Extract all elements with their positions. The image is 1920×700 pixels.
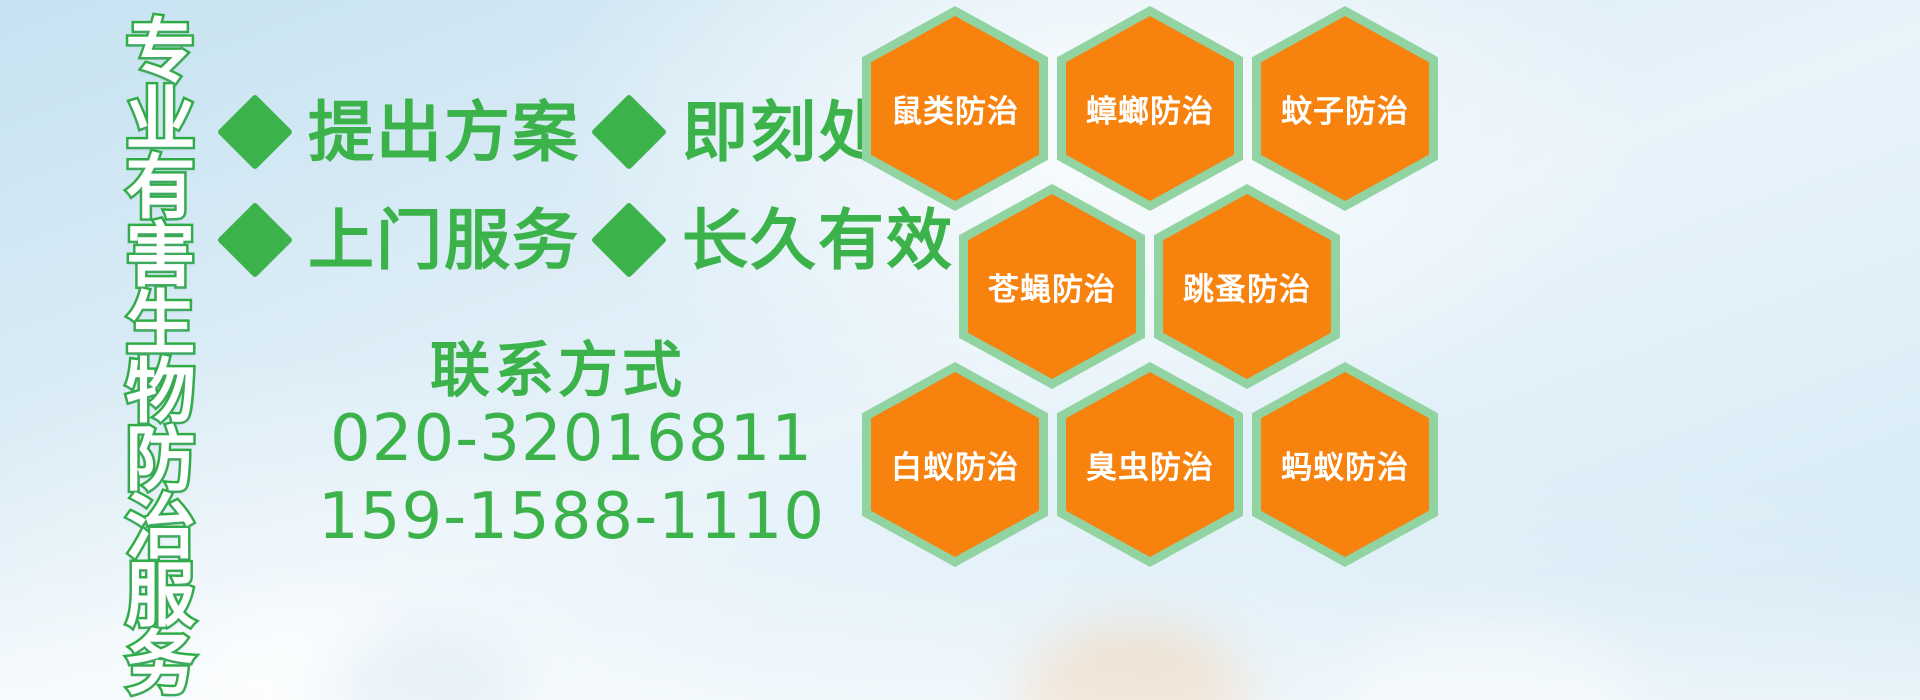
diamond-bullet-icon (591, 202, 667, 278)
service-label: 苍蝇防治 (988, 264, 1116, 309)
service-hex-ant[interactable]: 蚂蚁防治 (1252, 362, 1438, 567)
contact-mobile[interactable]: 159-1588-1110 (318, 480, 825, 554)
slogan-item-3: 上门服务 (308, 207, 580, 273)
service-hex-cockroach[interactable]: 蟑螂防治 (1057, 6, 1243, 211)
background-blob-left (180, 620, 440, 700)
service-label: 臭虫防治 (1086, 442, 1214, 487)
background-blob-left-2 (330, 640, 520, 700)
diamond-bullet-icon (217, 202, 293, 278)
service-hex-termite[interactable]: 白蚁防治 (862, 362, 1048, 567)
service-label: 白蚁防治 (891, 442, 1019, 487)
service-hex-grid: 鼠类防治 蟑螂防治 蚊子防治 苍蝇防治 跳蚤防治 白蚁防治 (862, 0, 1462, 580)
contact-landline[interactable]: 020-32016811 (330, 402, 813, 476)
diamond-bullet-icon (217, 94, 293, 170)
service-hex-fly[interactable]: 苍蝇防治 (959, 184, 1145, 389)
diamond-bullet-icon (591, 94, 667, 170)
slogan-row-2: 上门服务 长久有效 (228, 186, 868, 294)
service-hex-flea[interactable]: 跳蚤防治 (1154, 184, 1340, 389)
contact-heading: 联系方式 (430, 322, 686, 409)
slogan-list: 提出方案 即刻处理 上门服务 长久有效 (228, 78, 868, 294)
background-blob-orange (1020, 630, 1250, 700)
service-label: 蟑螂防治 (1086, 86, 1214, 131)
slogan-row-1: 提出方案 即刻处理 (228, 78, 868, 186)
service-label: 蚂蚁防治 (1281, 442, 1409, 487)
service-hex-mosquito[interactable]: 蚊子防治 (1252, 6, 1438, 211)
slogan-item-1: 提出方案 (308, 99, 580, 165)
service-hex-bedbug[interactable]: 臭虫防治 (1057, 362, 1243, 567)
pest-control-banner: 专业有害生物防治服务 提出方案 即刻处理 上门服务 长久有效 联系方式 020-… (0, 0, 1920, 700)
service-label: 蚊子防治 (1281, 86, 1409, 131)
service-hex-rodent[interactable]: 鼠类防治 (862, 6, 1048, 211)
background-blob-right (1340, 620, 1640, 700)
service-label: 跳蚤防治 (1183, 264, 1311, 309)
vertical-company-title: 专业有害生物防治服务 (104, 14, 190, 694)
service-label: 鼠类防治 (891, 86, 1019, 131)
